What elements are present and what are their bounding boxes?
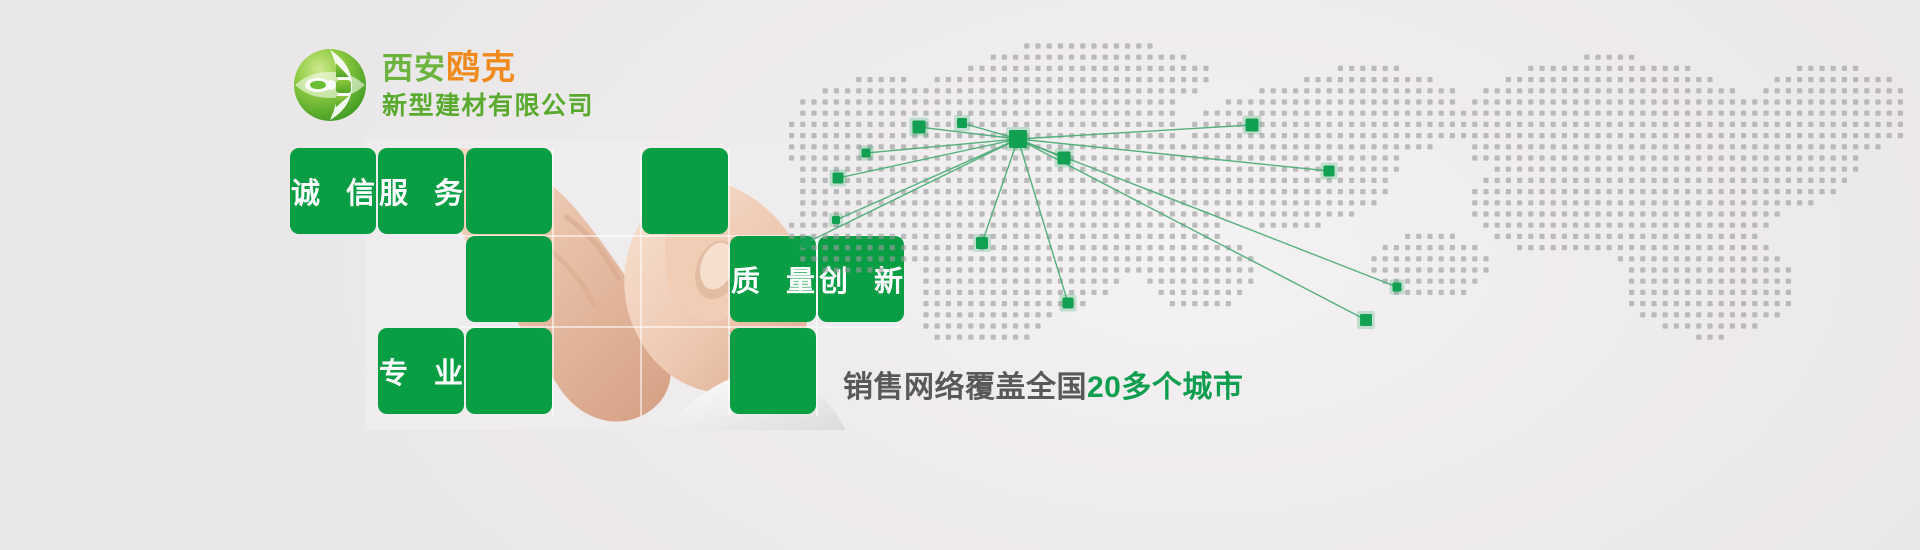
tile-service[interactable]: 服 务 [378, 148, 464, 234]
globe-leaf-logo-icon [292, 47, 368, 123]
company-banner: 西安鸥克 新型建材有限公司 [0, 0, 1920, 550]
company-logo[interactable]: 西安鸥克 新型建材有限公司 [292, 47, 594, 123]
marker-africa-west[interactable] [798, 235, 814, 251]
marker-asia-east[interactable] [1055, 149, 1074, 168]
logo-wordmark: 西安鸥克 新型建材有限公司 [382, 51, 594, 119]
tile-integrity-label: 诚 信 [282, 170, 384, 212]
hub-east-asia[interactable] [1006, 127, 1030, 151]
marker-americas-east[interactable] [1390, 280, 1405, 295]
marker-europe-west[interactable] [830, 170, 847, 187]
tile-blank-r1c3 [466, 148, 552, 234]
logo-city: 西安 [382, 51, 446, 86]
tile-blank-r3c3 [466, 328, 552, 414]
tile-integrity[interactable]: 诚 信 [290, 148, 376, 234]
marker-mideast[interactable] [954, 115, 970, 131]
tile-professional[interactable]: 专 业 [378, 328, 464, 414]
tile-blank-r1c5 [642, 148, 728, 234]
marker-southeast-asia[interactable] [1060, 295, 1077, 312]
grid-line-v [552, 148, 554, 416]
marker-south-asia[interactable] [973, 234, 991, 252]
sales-network-caption: 销售网络覆盖全国20多个城市 [843, 362, 1243, 406]
marker-europe-central[interactable] [859, 146, 874, 161]
logo-brand: 鸥克 [446, 49, 516, 87]
caption-highlight: 20多个城市 [1087, 371, 1243, 404]
tile-blank-r2c3 [466, 236, 552, 322]
caption-lead: 销售网络覆盖全国 [843, 371, 1087, 404]
marker-americas-south[interactable] [1357, 311, 1375, 329]
marker-americas-central[interactable] [1321, 163, 1338, 180]
logo-title-line: 西安鸥克 [382, 51, 594, 85]
tile-service-label: 服 务 [370, 170, 472, 212]
network-connection-lines [806, 123, 1397, 320]
dotted-world-map [730, 18, 1910, 348]
marker-americas-north[interactable] [1243, 116, 1262, 135]
marker-europe-north[interactable] [910, 118, 929, 137]
marker-africa-north[interactable] [829, 213, 843, 227]
tile-professional-label: 专 业 [370, 350, 472, 392]
world-map-dot-grid [789, 43, 1903, 339]
logo-subtitle: 新型建材有限公司 [382, 94, 594, 119]
